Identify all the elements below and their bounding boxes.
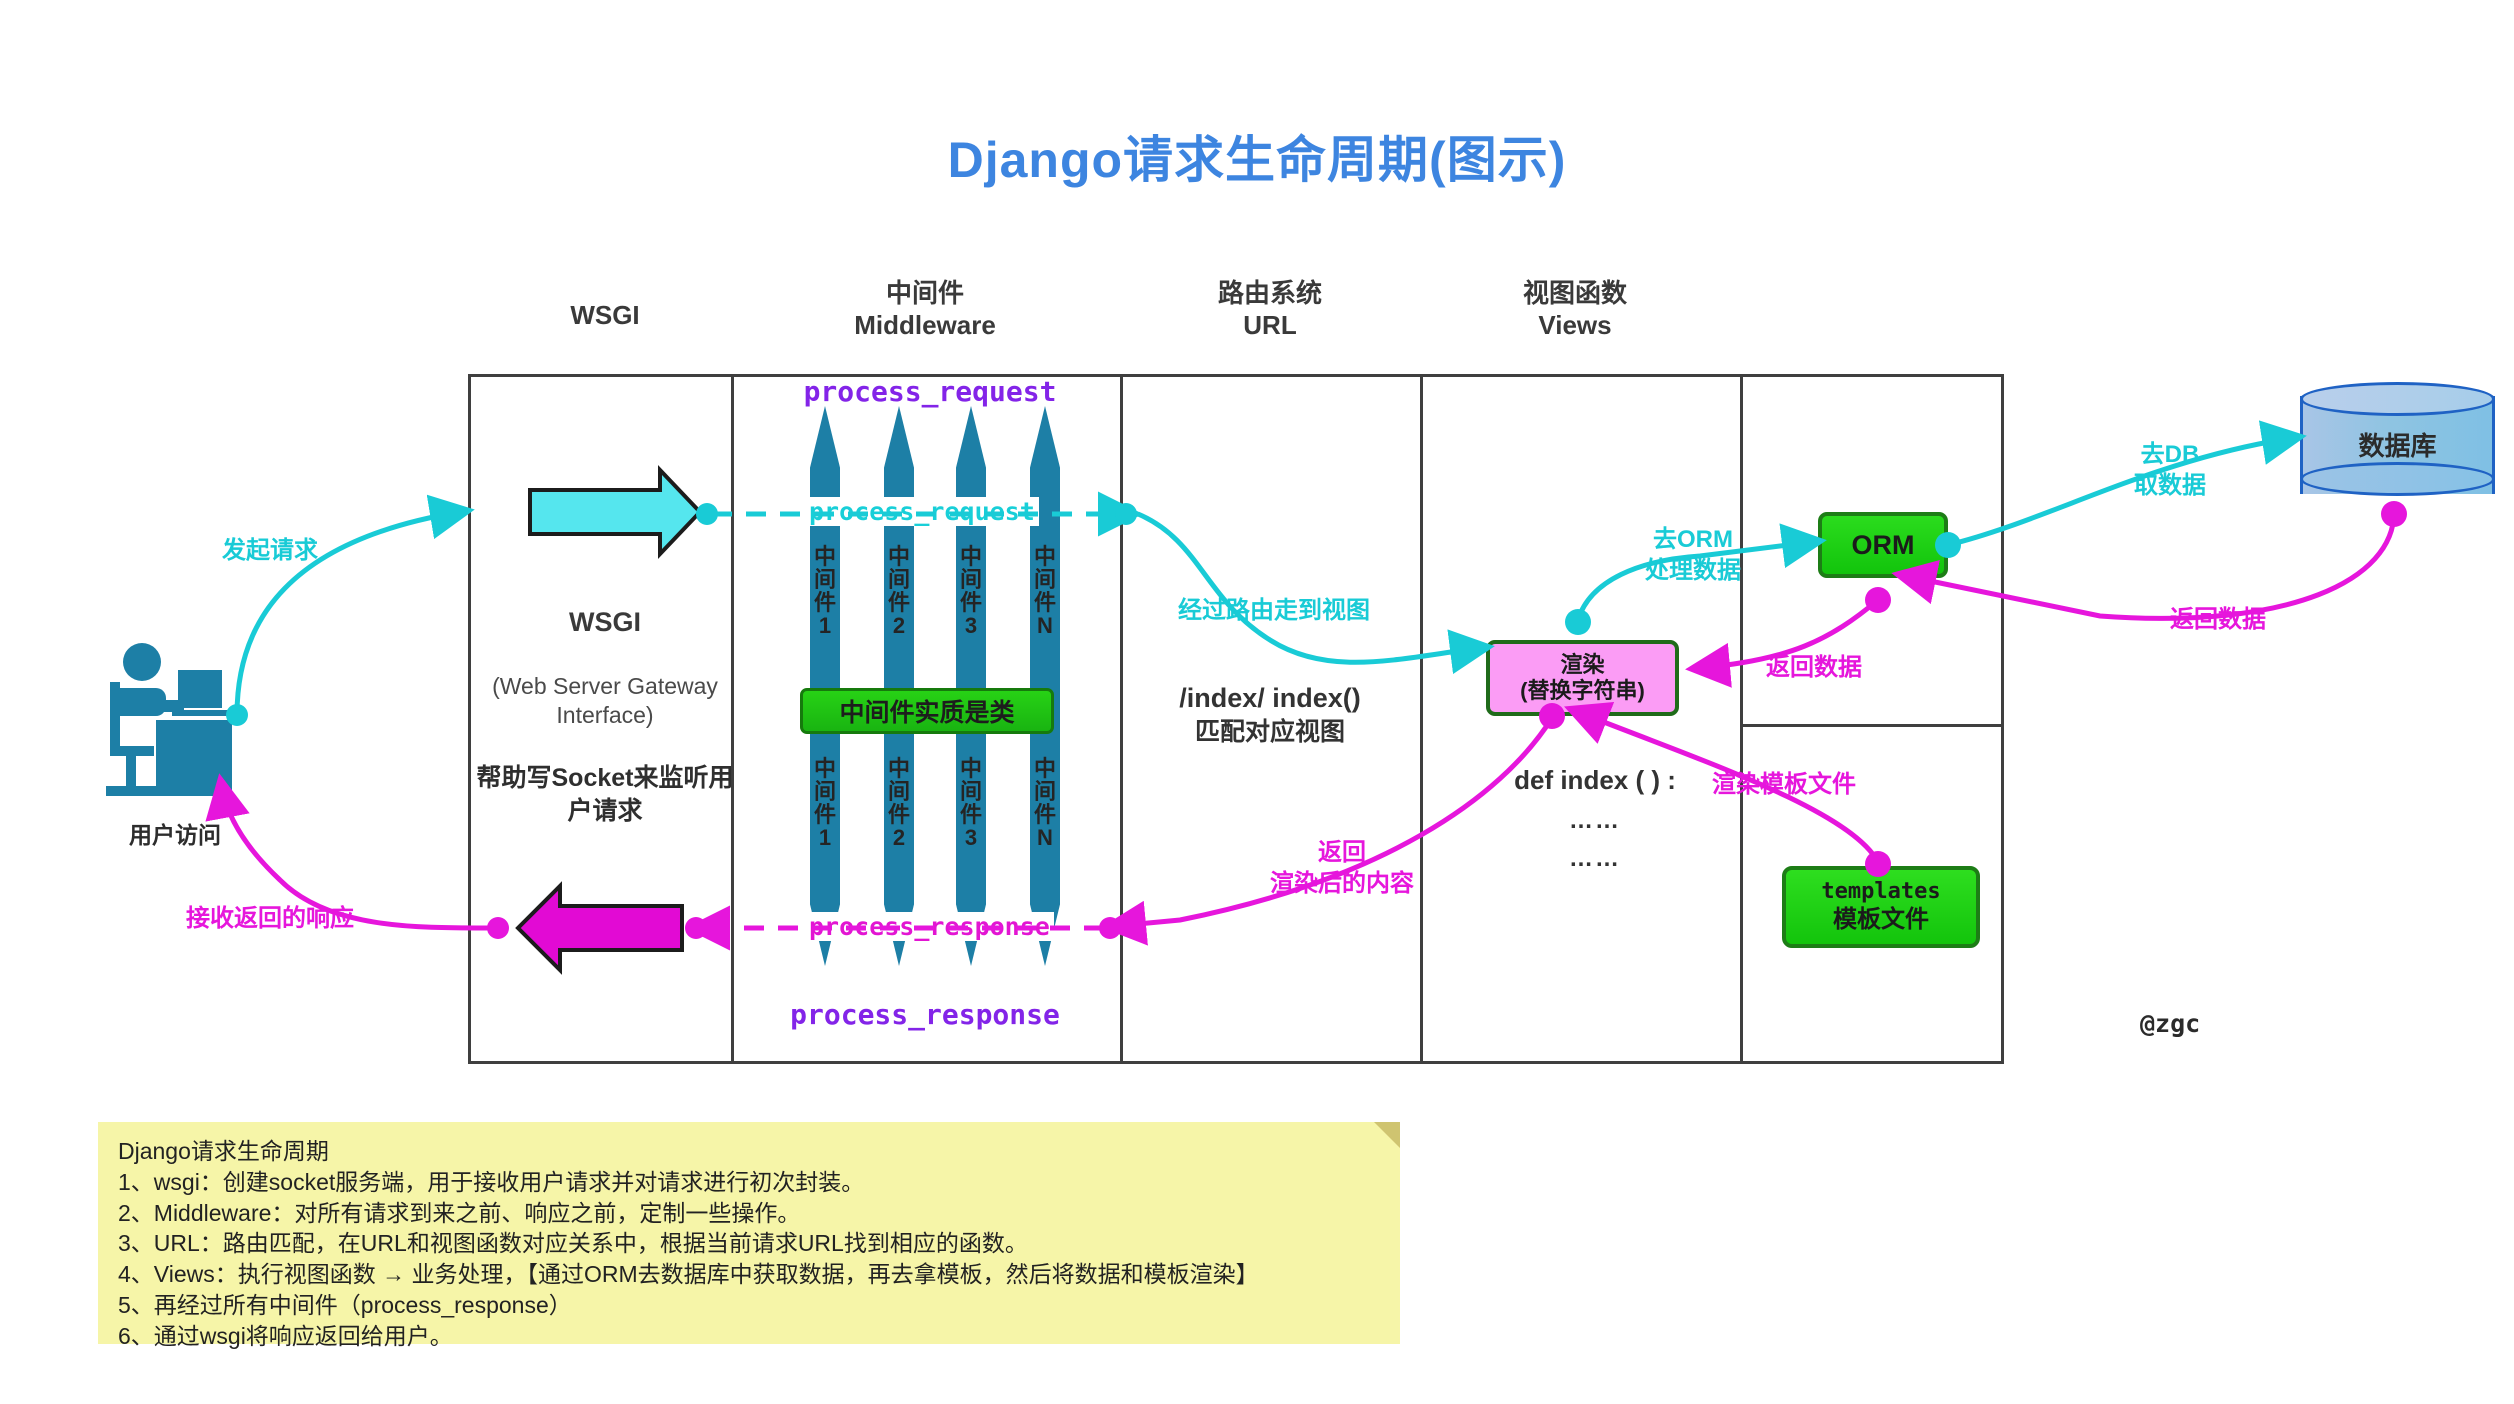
note-fold-corner — [1374, 1122, 1400, 1148]
render-box-line1: 渲染 — [1560, 652, 1604, 678]
middleware-bar-1-label-top: 中间件1 — [810, 546, 840, 638]
middleware-bar-n-label-top: 中间件N — [1030, 546, 1060, 638]
column-header-middleware-cn: 中间件 — [790, 278, 1060, 310]
middleware-bar-shape — [810, 406, 840, 966]
middleware-bar-2-label-bottom: 中间件2 — [884, 758, 914, 850]
note-line: 5、再经过所有中间件（process_response） — [118, 1290, 1380, 1321]
middleware-bar-3-label-top: 中间件3 — [956, 546, 986, 638]
annotation-send-request: 发起请求 — [222, 536, 318, 567]
middleware-bar-3-label-bottom: 中间件3 — [956, 758, 986, 850]
middleware-bar-1: 中间件1 中间件1 — [810, 406, 840, 966]
column-header-views-cn: 视图函数 — [1440, 278, 1710, 310]
annotation-return-data-db: 返回数据 — [2170, 605, 2266, 636]
column-header-url-cn: 路由系统 — [1135, 278, 1405, 310]
process-request-flow-label: process_request — [805, 497, 1039, 526]
note-box: Django请求生命周期 1、wsgi：创建socket服务端，用于接收用户请求… — [98, 1122, 1400, 1344]
render-box-line2: (替换字符串) — [1520, 678, 1645, 704]
process-request-top-label: process_request — [795, 375, 1065, 408]
database-top-ellipse — [2300, 382, 2495, 416]
note-line: 1、wsgi：创建socket服务端，用于接收用户请求并对请求进行初次封装。 — [118, 1167, 1380, 1198]
url-desc: 匹配对应视图 — [1120, 716, 1420, 750]
diagram-canvas: Django请求生命周期(图示) WSGI 中间件 Middleware 路由系… — [0, 0, 2514, 1404]
author-signature: @zgc — [2140, 1009, 2200, 1038]
url-mapping-block: /index/ index() 匹配对应视图 — [1120, 680, 1420, 750]
middleware-bar-n: 中间件N 中间件N — [1030, 406, 1060, 966]
note-line: 3、URL：路由匹配，在URL和视图函数对应关系中，根据当前请求URL找到相应的… — [118, 1228, 1380, 1259]
divider-url-views — [1420, 374, 1423, 1064]
middleware-bar-3: 中间件3 中间件3 — [956, 406, 986, 966]
database-cylinder: 数据库 — [2300, 382, 2495, 507]
wsgi-title: WSGI — [470, 607, 740, 638]
page-title: Django请求生命周期(图示) — [0, 120, 2514, 192]
middleware-bar-n-label-bottom: 中间件N — [1030, 758, 1060, 850]
templates-box-en: templates — [1821, 879, 1940, 905]
column-header-wsgi: WSGI — [470, 300, 740, 332]
column-header-wsgi-en: WSGI — [470, 300, 740, 332]
wsgi-note: 帮助写Socket来监听用户请求 — [470, 762, 740, 827]
column-header-middleware: 中间件 Middleware — [790, 278, 1060, 341]
annotation-return-rendered: 返回 渲染后的内容 — [1242, 838, 1442, 899]
divider-orm-templates — [1740, 724, 2004, 727]
middleware-bar-shape — [884, 406, 914, 966]
note-line: Django请求生命周期 — [118, 1136, 1380, 1167]
annotation-to-db-line2: 取数据 — [2100, 471, 2240, 502]
render-box: 渲染 (替换字符串) — [1486, 640, 1679, 716]
annotation-to-orm-line1: 去ORM — [1608, 525, 1778, 556]
orm-box: ORM — [1818, 512, 1948, 578]
annotation-to-db: 去DB 取数据 — [2100, 440, 2240, 501]
annotation-route-to-view: 经过路由走到视图 — [1178, 596, 1370, 627]
middleware-bar-1-label-bottom: 中间件1 — [810, 758, 840, 850]
annotation-to-orm-line2: 处理数据 — [1608, 556, 1778, 587]
column-header-url-en: URL — [1135, 310, 1405, 342]
process-response-flow-label: process_response — [805, 912, 1054, 941]
middleware-bar-2: 中间件2 中间件2 — [884, 406, 914, 966]
annotation-return-rendered-line1: 返回 — [1242, 838, 1442, 869]
annotation-to-orm: 去ORM 处理数据 — [1608, 525, 1778, 586]
url-mapping: /index/ index() — [1120, 680, 1420, 716]
annotation-return-rendered-line2: 渲染后的内容 — [1242, 869, 1442, 900]
annotation-return-data-orm: 返回数据 — [1766, 653, 1862, 684]
view-function-code: def index ( ) : …… …… — [1455, 760, 1735, 878]
templates-box: templates 模板文件 — [1782, 866, 1980, 948]
middleware-bar-shape — [1030, 406, 1060, 966]
middleware-bar-shape — [956, 406, 986, 966]
process-response-bottom-label: process_response — [790, 998, 1060, 1031]
annotation-render-template: 渲染模板文件 — [1712, 770, 1856, 801]
divider-views-orm — [1740, 374, 1743, 1064]
column-header-views-en: Views — [1440, 310, 1710, 342]
def-index-line: def index ( ) : — [1455, 760, 1735, 802]
annotation-receive-response: 接收返回的响应 — [186, 904, 354, 935]
code-dots-2: …… — [1455, 840, 1735, 878]
user-at-computer-icon — [90, 640, 270, 810]
column-header-views: 视图函数 Views — [1440, 278, 1710, 341]
user-label: 用户访问 — [60, 816, 290, 850]
database-label: 数据库 — [2300, 426, 2495, 463]
annotation-to-db-line1: 去DB — [2100, 440, 2240, 471]
note-line: 4、Views：执行视图函数 → 业务处理，【通过ORM去数据库中获取数据，再去… — [118, 1259, 1380, 1290]
column-header-url: 路由系统 URL — [1135, 278, 1405, 341]
note-line: 6、通过wsgi将响应返回给用户。 — [118, 1321, 1380, 1352]
templates-box-cn: 模板文件 — [1833, 906, 1929, 935]
column-header-middleware-en: Middleware — [790, 310, 1060, 342]
database-bottom-ellipse — [2300, 462, 2495, 496]
code-dots-1: …… — [1455, 802, 1735, 840]
middleware-class-box: 中间件实质是类 — [800, 688, 1054, 734]
note-line: 2、Middleware：对所有请求到来之前、响应之前，定制一些操作。 — [118, 1198, 1380, 1229]
wsgi-subtitle: (Web Server Gateway Interface) — [470, 672, 740, 731]
middleware-bar-2-label-top: 中间件2 — [884, 546, 914, 638]
